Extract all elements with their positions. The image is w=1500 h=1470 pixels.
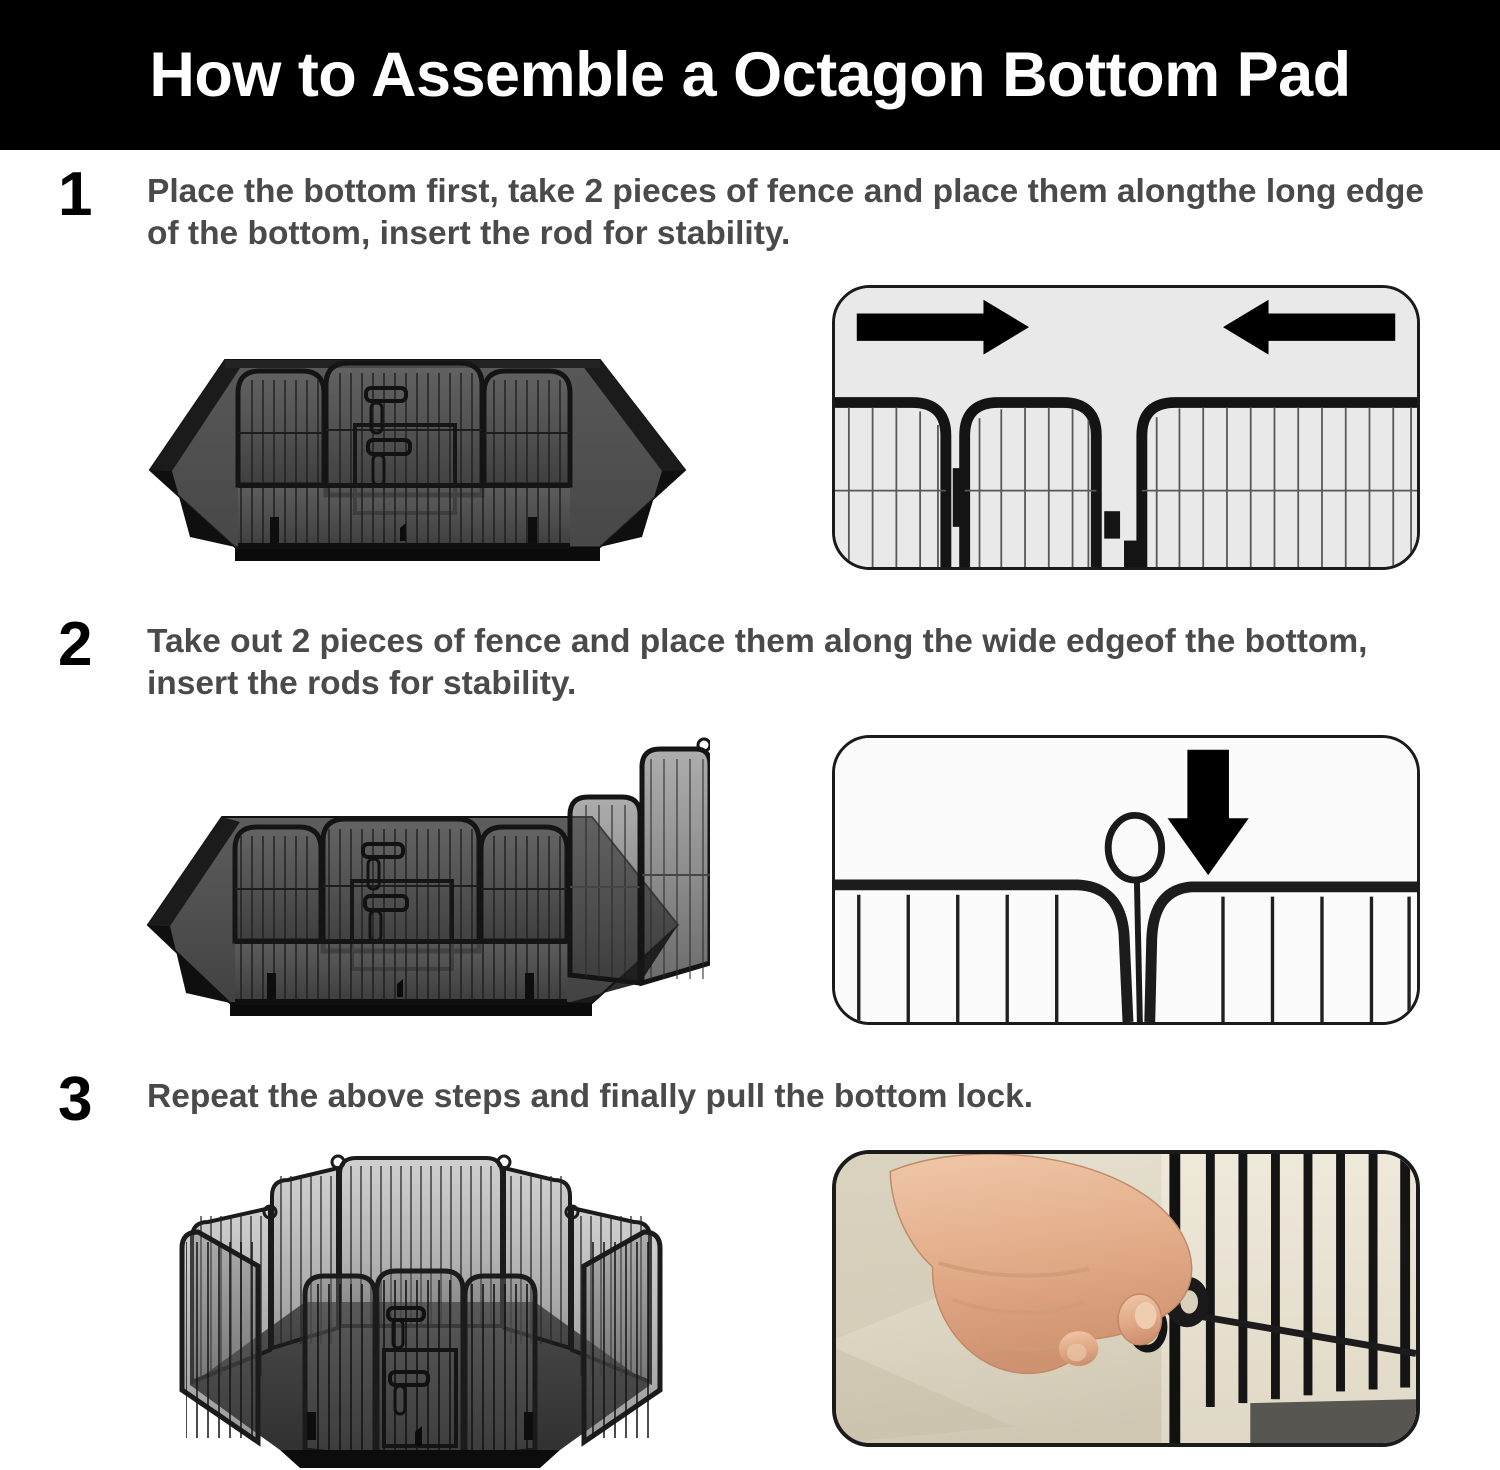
bottom-lock-pull-photo — [832, 1150, 1420, 1447]
detail-2-svg — [835, 738, 1417, 1022]
bottom-lock-clip — [524, 1412, 533, 1440]
step-3-number: 3 — [58, 1069, 120, 1131]
step-2-instruction: Take out 2 pieces of fence and place the… — [147, 621, 1437, 705]
fingernail — [1135, 1302, 1157, 1329]
step-section-2: 2 Take out 2 pieces of fence and place t… — [0, 600, 1500, 1055]
playpen-step3-svg — [130, 1150, 710, 1470]
detail-1-svg — [835, 288, 1417, 567]
step-1-instruction: Place the bottom first, take 2 pieces of… — [147, 171, 1437, 255]
rod-insertion-detail — [832, 735, 1420, 1025]
connector-clip — [1124, 541, 1137, 567]
bottom-lock-clip — [528, 517, 537, 543]
step-1-number: 1 — [58, 164, 120, 226]
connector-clip — [1104, 511, 1120, 538]
step-3-heading: 3 Repeat the above steps and finally pul… — [58, 1069, 1033, 1131]
fence-panel-right — [484, 371, 570, 485]
octagon-pad-with-four-fence-panels-illustration — [130, 735, 710, 1030]
playpen-step1-svg — [130, 285, 710, 575]
fingernail — [1067, 1344, 1087, 1362]
completed-octagon-playpen-illustration — [130, 1150, 710, 1470]
pad-base-rim — [280, 1450, 560, 1468]
fence-panel-front-right — [584, 1232, 660, 1442]
fence-panels-pushed-together-detail — [832, 285, 1420, 570]
octagon-bottom-pad-with-two-fence-panels-illustration — [130, 285, 710, 575]
step-2-number: 2 — [58, 614, 120, 676]
fence-panel-right — [481, 827, 567, 941]
page-title: How to Assemble a Octagon Bottom Pad — [149, 39, 1350, 111]
step-2-heading: 2 Take out 2 pieces of fence and place t… — [58, 614, 1437, 705]
bottom-lock-clip — [270, 517, 279, 543]
fence-panel-front-left — [182, 1232, 258, 1442]
fence-panel-left — [238, 371, 324, 485]
detail-3-svg — [836, 1154, 1416, 1443]
step-3-instruction: Repeat the above steps and finally pull … — [147, 1076, 1033, 1118]
step-1-heading: 1 Place the bottom first, take 2 pieces … — [58, 164, 1437, 255]
fence-panel-left — [235, 827, 321, 941]
step-section-1: 1 Place the bottom first, take 2 pieces … — [0, 150, 1500, 600]
added-fence-panel-a — [570, 797, 640, 983]
header-bar: How to Assemble a Octagon Bottom Pad — [0, 0, 1500, 150]
added-fence-panel-b — [642, 739, 710, 983]
playpen-step2-svg — [130, 735, 710, 1030]
bottom-lock-clip — [307, 1412, 316, 1440]
step-section-3: 3 Repeat the above steps and finally pul… — [0, 1055, 1500, 1465]
connector-clip — [953, 468, 964, 527]
